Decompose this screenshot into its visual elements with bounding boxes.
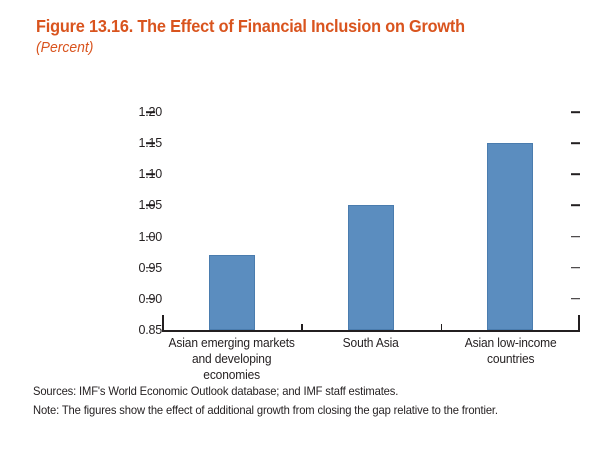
category-divider-tick xyxy=(301,324,302,331)
y-axis-tick-mark-left xyxy=(146,236,155,238)
figure-subtitle: (Percent) xyxy=(36,39,538,58)
y-axis-right-corner-stub xyxy=(578,315,580,331)
y-axis-tick-mark-right xyxy=(571,267,580,269)
footnote-note: Note: The figures show the effect of add… xyxy=(33,401,551,420)
x-axis-category-label: South Asia xyxy=(304,335,438,351)
page-title: Figure 13.16. The Effect of Financial In… xyxy=(36,16,538,36)
y-axis-tick-mark-right xyxy=(571,173,580,175)
y-axis-tick-mark-right xyxy=(571,142,580,144)
category-label-line: Asian low-income xyxy=(443,335,577,351)
bar xyxy=(487,143,533,330)
bar-chart: 1.201.151.101.051.000.950.900.85 Asian e… xyxy=(0,100,600,340)
footnotes: Sources: IMF's World Economic Outlook da… xyxy=(33,382,578,420)
bar xyxy=(209,255,255,330)
category-label-line: and developing economies xyxy=(165,351,299,383)
category-label-line: South Asia xyxy=(304,335,438,351)
y-axis-tick-mark-left xyxy=(146,205,155,207)
y-axis-tick-mark-right xyxy=(571,111,580,113)
category-divider-tick xyxy=(441,324,442,331)
y-axis-tick-label: 0.85 xyxy=(138,323,162,337)
y-axis-tick-mark-right xyxy=(571,205,580,207)
category-label-line: Asian emerging markets xyxy=(165,335,299,351)
y-axis-tick-mark-left xyxy=(146,111,155,113)
figure-title-block: Figure 13.16. The Effect of Financial In… xyxy=(36,16,576,58)
y-axis-tick-mark-right xyxy=(571,298,580,300)
y-axis-tick-mark-left xyxy=(146,173,155,175)
category-label-line: countries xyxy=(443,351,577,367)
y-axis-left-corner-stub xyxy=(162,315,164,331)
y-axis-tick-mark-left xyxy=(146,267,155,269)
y-axis-tick-mark-left xyxy=(146,298,155,300)
x-axis-category-label: Asian low-incomecountries xyxy=(443,335,577,367)
y-axis-tick-mark-left xyxy=(146,142,155,144)
y-axis-tick-mark-right xyxy=(571,236,580,238)
x-axis-category-label: Asian emerging marketsand developing eco… xyxy=(165,335,299,383)
x-axis-baseline xyxy=(162,330,580,332)
bar xyxy=(348,205,394,330)
footnote-sources: Sources: IMF's World Economic Outlook da… xyxy=(33,382,551,401)
